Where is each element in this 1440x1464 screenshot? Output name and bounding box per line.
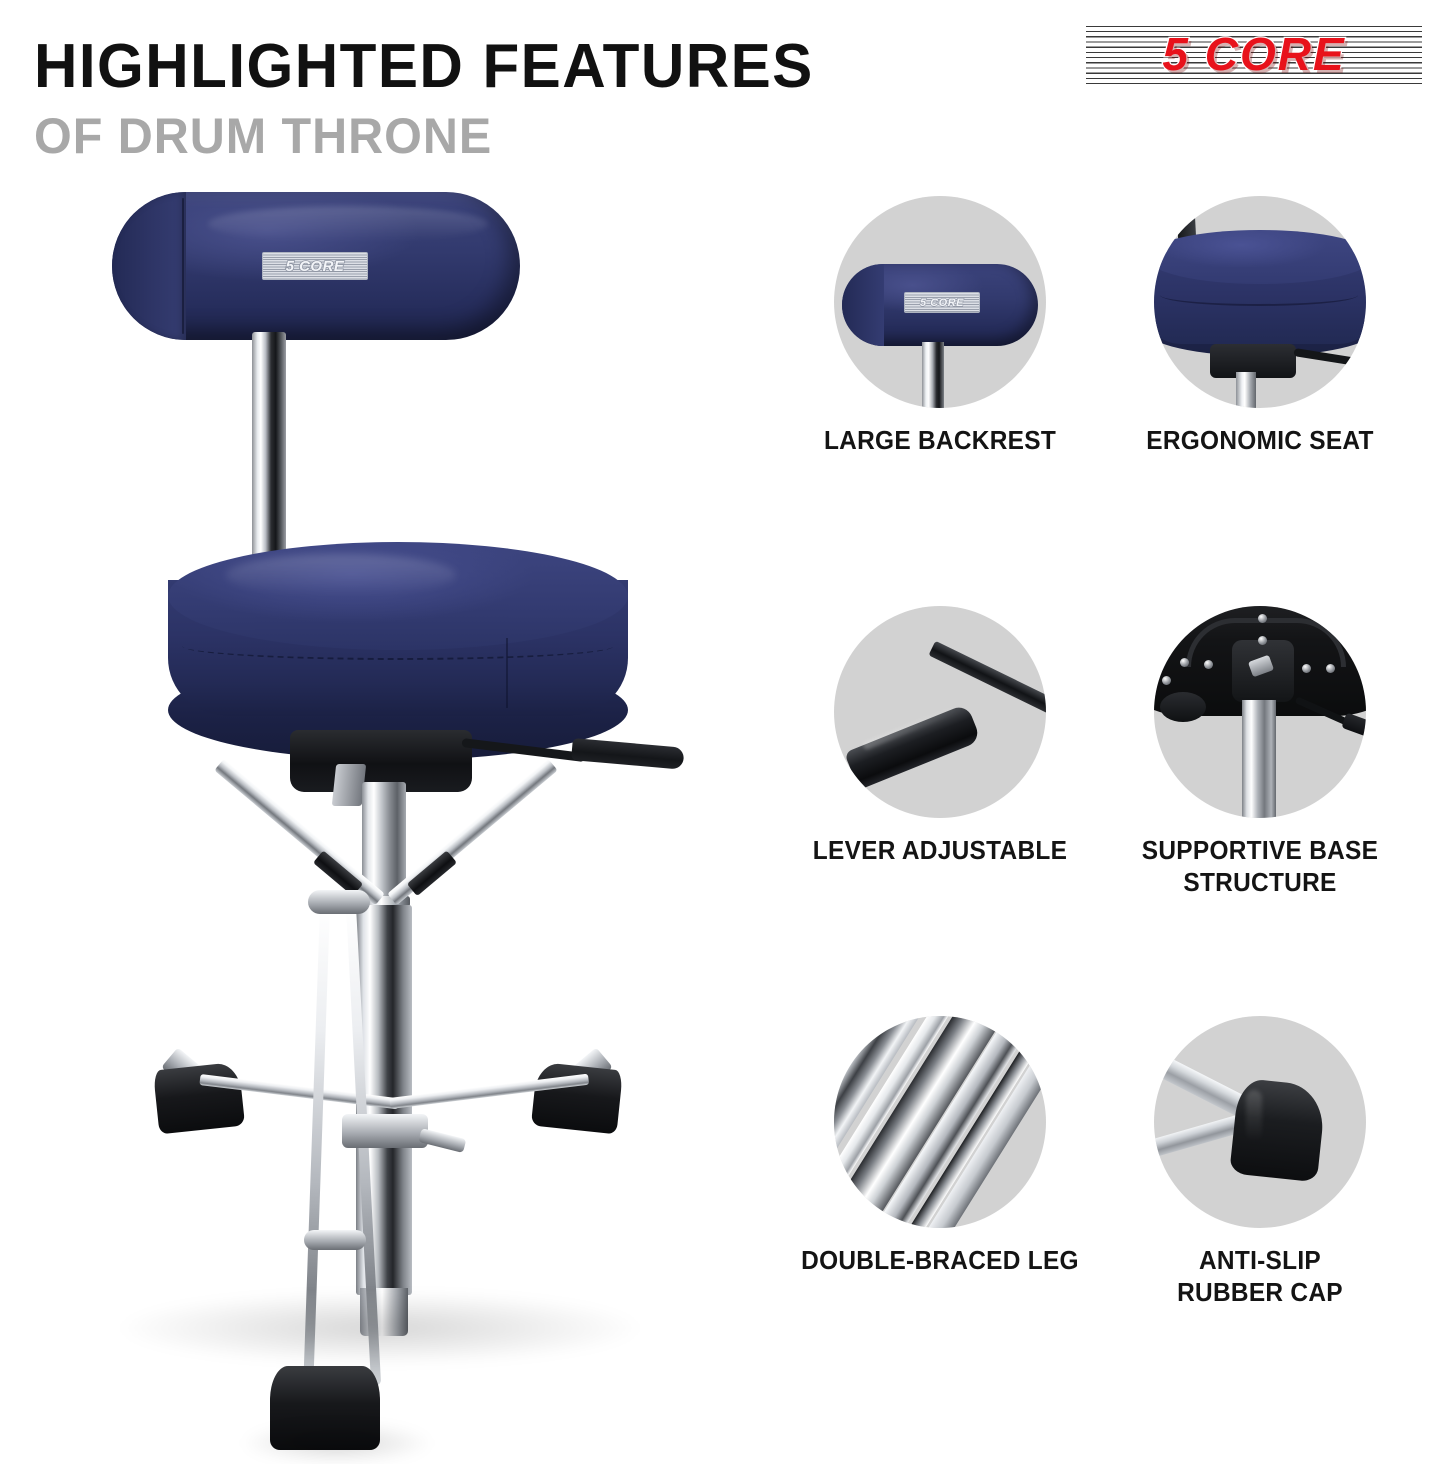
feature-supportive-base-label: SUPPORTIVE BASE STRUCTURE	[1110, 834, 1411, 898]
backrest-end-cap	[112, 192, 186, 340]
callout-rubber-cap-highlight	[1246, 1090, 1262, 1142]
feature-double-braced-leg[interactable]: DOUBLE-BRACED LEG	[780, 1016, 1100, 1276]
callout-seat-pole	[1236, 372, 1256, 408]
callout-base-screw-3	[1180, 658, 1189, 667]
product-brand-badge-text: 5 CORE	[286, 258, 345, 275]
front-leg-mid-collar	[304, 1230, 366, 1250]
feature-large-backrest-label: LARGE BACKREST	[790, 424, 1091, 456]
callout-seat-lever-grip	[1359, 354, 1366, 375]
backrest-highlight	[208, 206, 488, 242]
callout-backrest-cushion: 5 CORE	[842, 264, 1038, 346]
feature-double-braced-leg-label: DOUBLE-BRACED LEG	[790, 1244, 1091, 1276]
callout-base-screw-5	[1302, 664, 1311, 673]
feature-anti-slip-rubber-cap-label: ANTI-SLIP RUBBER CAP	[1110, 1244, 1411, 1308]
feature-supportive-base-structure[interactable]: SUPPORTIVE BASE STRUCTURE	[1100, 606, 1420, 898]
product-seat-cushion	[168, 542, 628, 742]
feature-anti-slip-rubber-cap-image	[1154, 1016, 1366, 1228]
callout-base-screw-7	[1162, 676, 1171, 685]
product-backrest-cushion: 5 CORE	[112, 192, 520, 340]
feature-ergonomic-seat-image	[1154, 196, 1366, 408]
page-title-primary: HIGHLIGHTED FEATURES	[34, 36, 965, 98]
feature-anti-slip-label-line2: RUBBER CAP	[1110, 1276, 1411, 1308]
feature-large-backrest[interactable]: 5 CORE LARGE BACKREST	[780, 196, 1100, 456]
callout-base-screw-1	[1258, 614, 1267, 623]
seat-vertical-seam	[506, 638, 508, 708]
callout-rubber-cap	[1229, 1078, 1327, 1183]
feature-callout-grid: 5 CORE LARGE BACKREST ERGONOMIC SEAT	[780, 196, 1420, 1406]
seat-highlight	[226, 554, 456, 596]
callout-seat-stitching	[1160, 284, 1358, 306]
callout-lever-rod	[928, 641, 1046, 717]
product-brand-badge: 5 CORE	[262, 252, 368, 280]
feature-lever-adjustable-label: LEVER ADJUSTABLE	[790, 834, 1091, 866]
callout-seat-lever-arm	[1293, 348, 1366, 368]
product-foot-left	[153, 1062, 245, 1135]
front-leg-top-collar	[308, 890, 370, 914]
feature-lever-adjustable-image	[834, 606, 1046, 818]
brand-logo: 5 CORE	[1086, 20, 1422, 88]
callout-backrest-end-cap	[842, 264, 884, 346]
callout-seat-top-surface	[1154, 230, 1366, 284]
product-adjust-lever-grip	[571, 738, 684, 770]
callout-base-pole	[1242, 700, 1276, 818]
product-column-clamp	[342, 1114, 428, 1148]
feature-anti-slip-rubber-cap[interactable]: ANTI-SLIP RUBBER CAP	[1100, 1016, 1420, 1308]
product-hero-image: 5 CORE	[60, 170, 760, 1420]
callout-base-screw-4	[1204, 660, 1213, 669]
feature-anti-slip-label-line1: ANTI-SLIP	[1110, 1244, 1411, 1276]
feature-ergonomic-seat-label: ERGONOMIC SEAT	[1110, 424, 1411, 456]
product-clamp-wing-screw	[418, 1128, 466, 1153]
callout-brand-badge-text: 5 CORE	[920, 297, 964, 309]
product-front-foot-shadow	[242, 1422, 432, 1464]
callout-base-screw-6	[1326, 664, 1335, 673]
page-title-secondary: OF DRUM THRONE	[34, 110, 965, 162]
feature-supportive-base-label-line2: STRUCTURE	[1110, 866, 1411, 898]
feature-supportive-base-label-line1: SUPPORTIVE BASE	[1110, 834, 1411, 866]
feature-lever-adjustable[interactable]: LEVER ADJUSTABLE	[780, 606, 1100, 866]
page-title: HIGHLIGHTED FEATURES OF DRUM THRONE	[34, 36, 994, 162]
feature-double-braced-leg-image	[834, 1016, 1046, 1228]
feature-large-backrest-image: 5 CORE	[834, 196, 1046, 408]
product-backrest-post	[252, 332, 286, 567]
brand-logo-number: 5	[1162, 27, 1190, 81]
product-foot-right	[531, 1062, 623, 1135]
callout-base-knob	[1160, 692, 1206, 722]
product-ground-shadow	[120, 1292, 640, 1364]
callout-base-screw-2	[1258, 636, 1267, 645]
feature-ergonomic-seat[interactable]: ERGONOMIC SEAT	[1100, 196, 1420, 456]
callout-backrest-post	[922, 342, 944, 408]
feature-supportive-base-image	[1154, 606, 1366, 818]
callout-base-cable-end	[1341, 712, 1366, 739]
brand-logo-word: CORE	[1205, 27, 1346, 81]
seat-stitching	[182, 632, 614, 660]
brand-logo-text: 5 CORE	[1086, 20, 1422, 88]
callout-brand-badge: 5 CORE	[904, 292, 980, 313]
backrest-seam	[182, 198, 184, 334]
